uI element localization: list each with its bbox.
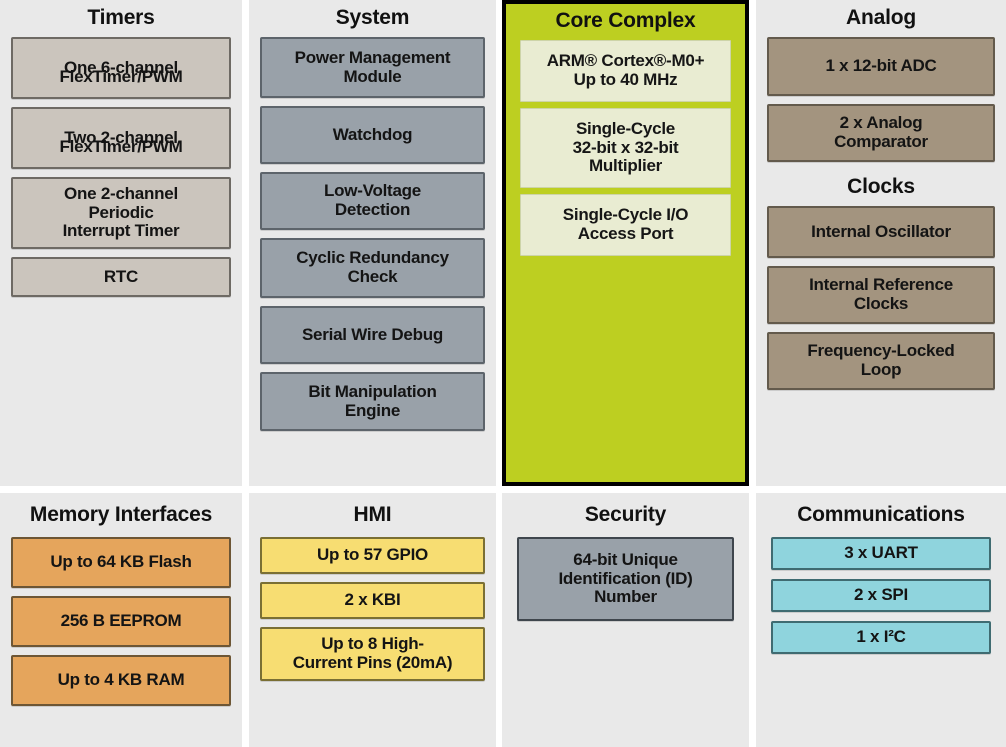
- block-line: Clocks: [854, 295, 908, 314]
- block-unique-id-number[interactable]: 64-bit Unique Identification (ID) Number: [517, 537, 734, 621]
- panel-communications: Communications 3 x UART 2 x SPI 1 x I²C: [756, 493, 1006, 747]
- block-line: One 2-channel: [64, 185, 178, 204]
- block-list-memory: Up to 64 KB Flash 256 B EEPROM Up to 4 K…: [0, 526, 242, 706]
- block-line: Single-Cycle: [576, 120, 675, 139]
- block-kbi-2x[interactable]: 2 x KBI: [260, 582, 485, 619]
- panel-hmi: HMI Up to 57 GPIO 2 x KBI Up to 8 High- …: [249, 493, 496, 747]
- block-cyclic-redundancy-check[interactable]: Cyclic Redundancy Check: [260, 238, 485, 298]
- block-list-timers: One 6-channel FlexTimer/PWM Two 2-channe…: [0, 29, 242, 297]
- block-line: 3 x UART: [844, 544, 918, 563]
- block-high-current-pins[interactable]: Up to 8 High- Current Pins (20mA): [260, 627, 485, 681]
- block-line: 256 B EEPROM: [61, 612, 182, 631]
- block-line: Watchdog: [333, 126, 413, 145]
- block-flextimer-6ch[interactable]: One 6-channel: [11, 37, 231, 99]
- block-line: 1 x I²C: [856, 628, 905, 647]
- block-line: Periodic: [88, 204, 153, 223]
- block-line: Loop: [861, 361, 902, 380]
- block-line: 2 x KBI: [345, 591, 401, 610]
- block-list-analog: 1 x 12-bit ADC 2 x Analog Comparator: [756, 29, 1006, 162]
- block-ram-4kb[interactable]: Up to 4 KB RAM: [11, 655, 231, 706]
- block-line: Bit Manipulation: [308, 383, 436, 402]
- block-line: Detection: [335, 201, 410, 220]
- block-line: 2 x SPI: [854, 586, 908, 605]
- block-list-clocks: Internal Oscillator Internal Reference C…: [756, 198, 1006, 390]
- block-line: 32-bit x 32-bit: [573, 139, 679, 158]
- block-line: Internal Oscillator: [811, 223, 951, 242]
- block-line: Comparator: [834, 133, 928, 152]
- block-line: Single-Cycle I/O: [563, 206, 688, 225]
- block-line: 1 x 12-bit ADC: [825, 57, 936, 76]
- block-spi-2x[interactable]: 2 x SPI: [771, 579, 991, 612]
- block-internal-oscillator[interactable]: Internal Oscillator: [767, 206, 995, 258]
- block-line: Up to 8 High-: [321, 635, 424, 654]
- block-line: Up to 57 GPIO: [317, 546, 428, 565]
- panel-title-timers: Timers: [0, 0, 242, 29]
- panel-title-analog: Analog: [756, 0, 1006, 29]
- block-gpio-57[interactable]: Up to 57 GPIO: [260, 537, 485, 574]
- block-line: Two 2-channel: [64, 129, 178, 148]
- block-list-hmi: Up to 57 GPIO 2 x KBI Up to 8 High- Curr…: [249, 526, 496, 681]
- panel-core-complex: Core Complex ARM® Cortex®-M0+ Up to 40 M…: [502, 0, 749, 486]
- block-list-core-complex: ARM® Cortex®-M0+ Up to 40 MHz Single-Cyc…: [506, 32, 745, 256]
- block-list-system: Power Management Module Watchdog Low-Vol…: [249, 29, 496, 431]
- block-line: RTC: [104, 268, 138, 287]
- block-rtc[interactable]: RTC: [11, 257, 231, 297]
- block-bit-manipulation-engine[interactable]: Bit Manipulation Engine: [260, 372, 485, 431]
- block-line: Cyclic Redundancy: [296, 249, 449, 268]
- block-serial-wire-debug[interactable]: Serial Wire Debug: [260, 306, 485, 364]
- block-line: Identification (ID): [558, 570, 692, 589]
- block-frequency-locked-loop[interactable]: Frequency-Locked Loop: [767, 332, 995, 390]
- block-uart-3x[interactable]: 3 x UART: [771, 537, 991, 570]
- panel-title-core-complex: Core Complex: [506, 4, 745, 32]
- block-line: 64-bit Unique: [573, 551, 677, 570]
- panel-title-memory-interfaces: Memory Interfaces: [0, 493, 242, 526]
- block-line: Number: [594, 588, 657, 607]
- block-periodic-interrupt-timer[interactable]: One 2-channel Periodic Interrupt Timer: [11, 177, 231, 249]
- block-line: Internal Reference: [809, 276, 953, 295]
- block-line: Multiplier: [589, 157, 662, 176]
- block-internal-reference-clocks[interactable]: Internal Reference Clocks: [767, 266, 995, 324]
- block-line: Low-Voltage: [324, 182, 421, 201]
- panel-security: Security 64-bit Unique Identification (I…: [502, 493, 749, 747]
- block-line: 2 x Analog: [840, 114, 923, 133]
- block-line: Up to 40 MHz: [574, 71, 678, 90]
- panel-memory-interfaces: Memory Interfaces Up to 64 KB Flash 256 …: [0, 493, 242, 747]
- block-flash-64kb[interactable]: Up to 64 KB Flash: [11, 537, 231, 588]
- block-line: One 6-channel: [64, 59, 178, 78]
- block-line: ARM® Cortex®-M0+: [547, 52, 705, 71]
- block-list-security: 64-bit Unique Identification (ID) Number: [502, 526, 749, 621]
- block-arm-cortex-m0plus[interactable]: ARM® Cortex®-M0+ Up to 40 MHz: [520, 40, 731, 102]
- panel-title-security: Security: [502, 493, 749, 526]
- block-line: Module: [344, 68, 402, 87]
- block-flextimer-2ch[interactable]: Two 2-channel: [11, 107, 231, 169]
- block-power-management-module[interactable]: Power Management Module: [260, 37, 485, 98]
- panel-system: System Power Management Module Watchdog …: [249, 0, 496, 486]
- block-low-voltage-detection[interactable]: Low-Voltage Detection: [260, 172, 485, 230]
- block-eeprom-256b[interactable]: 256 B EEPROM: [11, 596, 231, 647]
- block-line: Serial Wire Debug: [302, 326, 443, 345]
- panel-title-communications: Communications: [756, 493, 1006, 526]
- block-line: Power Management: [295, 49, 451, 68]
- block-line: Check: [348, 268, 398, 287]
- block-i2c-1x[interactable]: 1 x I²C: [771, 621, 991, 654]
- block-single-cycle-io-access-port[interactable]: Single-Cycle I/O Access Port: [520, 194, 731, 256]
- panel-analog: Analog 1 x 12-bit ADC 2 x Analog Compara…: [756, 0, 1006, 486]
- block-line: Engine: [345, 402, 400, 421]
- block-line: Up to 64 KB Flash: [50, 553, 191, 572]
- block-line: Current Pins (20mA): [293, 654, 453, 673]
- block-analog-comparator[interactable]: 2 x Analog Comparator: [767, 104, 995, 162]
- block-line: Interrupt Timer: [63, 222, 180, 241]
- block-list-communications: 3 x UART 2 x SPI 1 x I²C: [756, 526, 1006, 654]
- block-line: Frequency-Locked: [807, 342, 954, 361]
- block-adc-12bit[interactable]: 1 x 12-bit ADC: [767, 37, 995, 96]
- mcu-block-diagram: Timers One 6-channel FlexTimer/PWM Two 2…: [0, 0, 1006, 747]
- panel-subtitle-clocks: Clocks: [756, 176, 1006, 198]
- block-line: Access Port: [578, 225, 674, 244]
- panel-timers: Timers One 6-channel FlexTimer/PWM Two 2…: [0, 0, 242, 486]
- block-single-cycle-multiplier[interactable]: Single-Cycle 32-bit x 32-bit Multiplier: [520, 108, 731, 188]
- block-line: Up to 4 KB RAM: [58, 671, 185, 690]
- block-watchdog[interactable]: Watchdog: [260, 106, 485, 164]
- panel-title-hmi: HMI: [249, 493, 496, 526]
- panel-title-system: System: [249, 0, 496, 29]
